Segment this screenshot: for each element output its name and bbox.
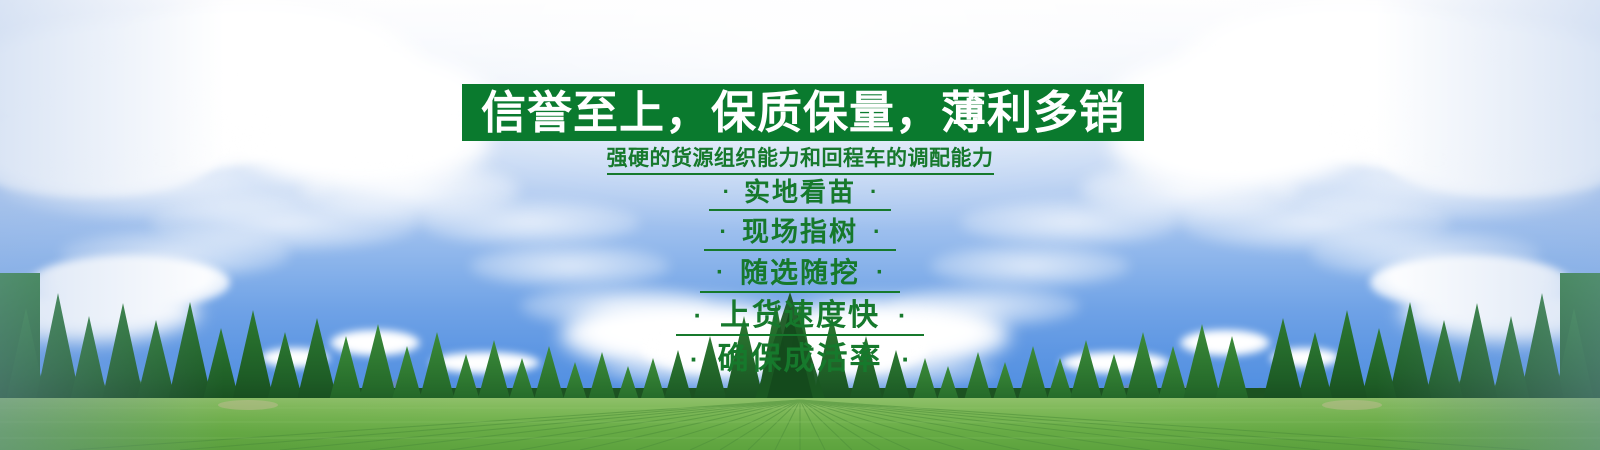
bullet-dot-icon: · xyxy=(709,180,744,205)
bullet-dot-icon: · xyxy=(676,302,720,330)
subtitle-container: 强硬的货源组织能力和回程车的调配能力 xyxy=(0,147,1600,175)
feature-label: 随选随挖 xyxy=(740,257,860,288)
promo-banner: 信誉至上，保质保量，薄利多销 强硬的货源组织能力和回程车的调配能力 ·实地看苗·… xyxy=(0,0,1600,450)
headline-text: 信誉至上，保质保量，薄利多销 xyxy=(481,90,1125,135)
feature-label: 实地看苗 xyxy=(744,178,856,207)
bullet-dot-icon: · xyxy=(880,302,924,330)
bullet-dot-icon: · xyxy=(856,180,891,205)
feature-item: ·实地看苗· xyxy=(0,178,1600,211)
text-overlay: 信誉至上，保质保量，薄利多销 强硬的货源组织能力和回程车的调配能力 ·实地看苗·… xyxy=(0,0,1600,450)
feature-list: ·实地看苗· ·现场指树· ·随选随挖· ·上货速度快· xyxy=(0,178,1600,379)
feature-item: ·上货速度快· xyxy=(0,299,1600,337)
feature-label: 现场指树 xyxy=(742,217,858,247)
feature-item: ·现场指树· xyxy=(0,217,1600,251)
subtitle-text: 强硬的货源组织能力和回程车的调配能力 xyxy=(607,147,994,175)
feature-item: ·随选随挖· xyxy=(0,257,1600,292)
bullet-dot-icon: · xyxy=(858,219,896,245)
feature-item: ·确保成活率· xyxy=(0,342,1600,379)
bullet-dot-icon: · xyxy=(700,260,740,287)
bullet-dot-icon: · xyxy=(860,260,900,287)
headline-banner: 信誉至上，保质保量，薄利多销 xyxy=(462,84,1144,141)
bullet-dot-icon: · xyxy=(883,345,930,374)
bullet-dot-icon: · xyxy=(704,219,742,245)
bullet-dot-icon: · xyxy=(671,345,718,374)
feature-label: 确保成活率 xyxy=(718,342,883,377)
feature-label: 上货速度快 xyxy=(720,299,880,333)
